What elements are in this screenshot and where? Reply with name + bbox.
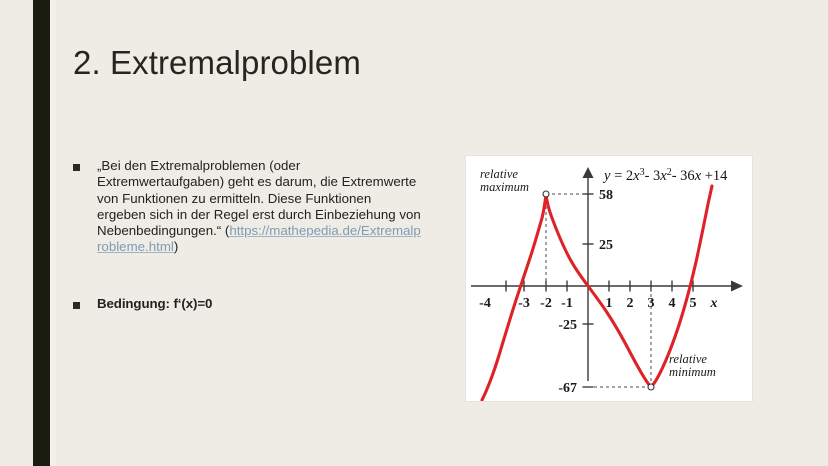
y-tick-label: -67 [558,381,577,396]
accent-gap-stripe [50,0,56,466]
relative-maximum-point [543,191,549,197]
slide: 2. Extremalproblem „Bei den Extremalprob… [0,0,828,466]
function-graph-image: -4 -3 -2 -1 1 2 3 4 5 x 58 25 [466,156,752,401]
x-tick-label: 4 [669,296,676,311]
x-axis-label: x [710,296,718,311]
x-tick-label: 2 [627,296,634,311]
y-tick-label: 25 [599,238,613,253]
relative-maximum-line1: relative [480,167,518,181]
x-tick-label: -3 [518,296,530,311]
square-bullet-icon [73,302,80,309]
body-content: „Bei den Extremalproblemen (oder Extremw… [73,158,423,312]
y-tick-label: 58 [599,188,613,203]
x-tick-label: 5 [690,296,697,311]
relative-maximum-line2: maximum [480,180,529,194]
x-tick-label: -2 [540,296,552,311]
relative-minimum-line2: minimum [669,365,716,379]
square-bullet-icon [73,164,80,171]
relative-minimum-line1: relative [669,352,707,366]
y-tick-label: -25 [558,318,577,333]
bullet-text-condition: Bedingung: f‘(x)=0 [97,296,423,312]
page-title: 2. Extremalproblem [73,44,533,82]
function-equation: y = 2x3- 3x2- 36x +14 [602,167,728,185]
quote-text-after-link: ) [174,239,178,254]
left-gutter [0,0,33,466]
x-tick-label: 1 [606,296,613,311]
x-tick-label: -4 [479,296,491,311]
relative-minimum-point [648,384,654,390]
list-item: Bedingung: f‘(x)=0 [73,296,423,312]
bullet-text-quote: „Bei den Extremalproblemen (oder Extremw… [97,158,423,256]
list-item: „Bei den Extremalproblemen (oder Extremw… [73,158,423,256]
x-tick-label: -1 [561,296,573,311]
accent-bar [33,0,50,466]
